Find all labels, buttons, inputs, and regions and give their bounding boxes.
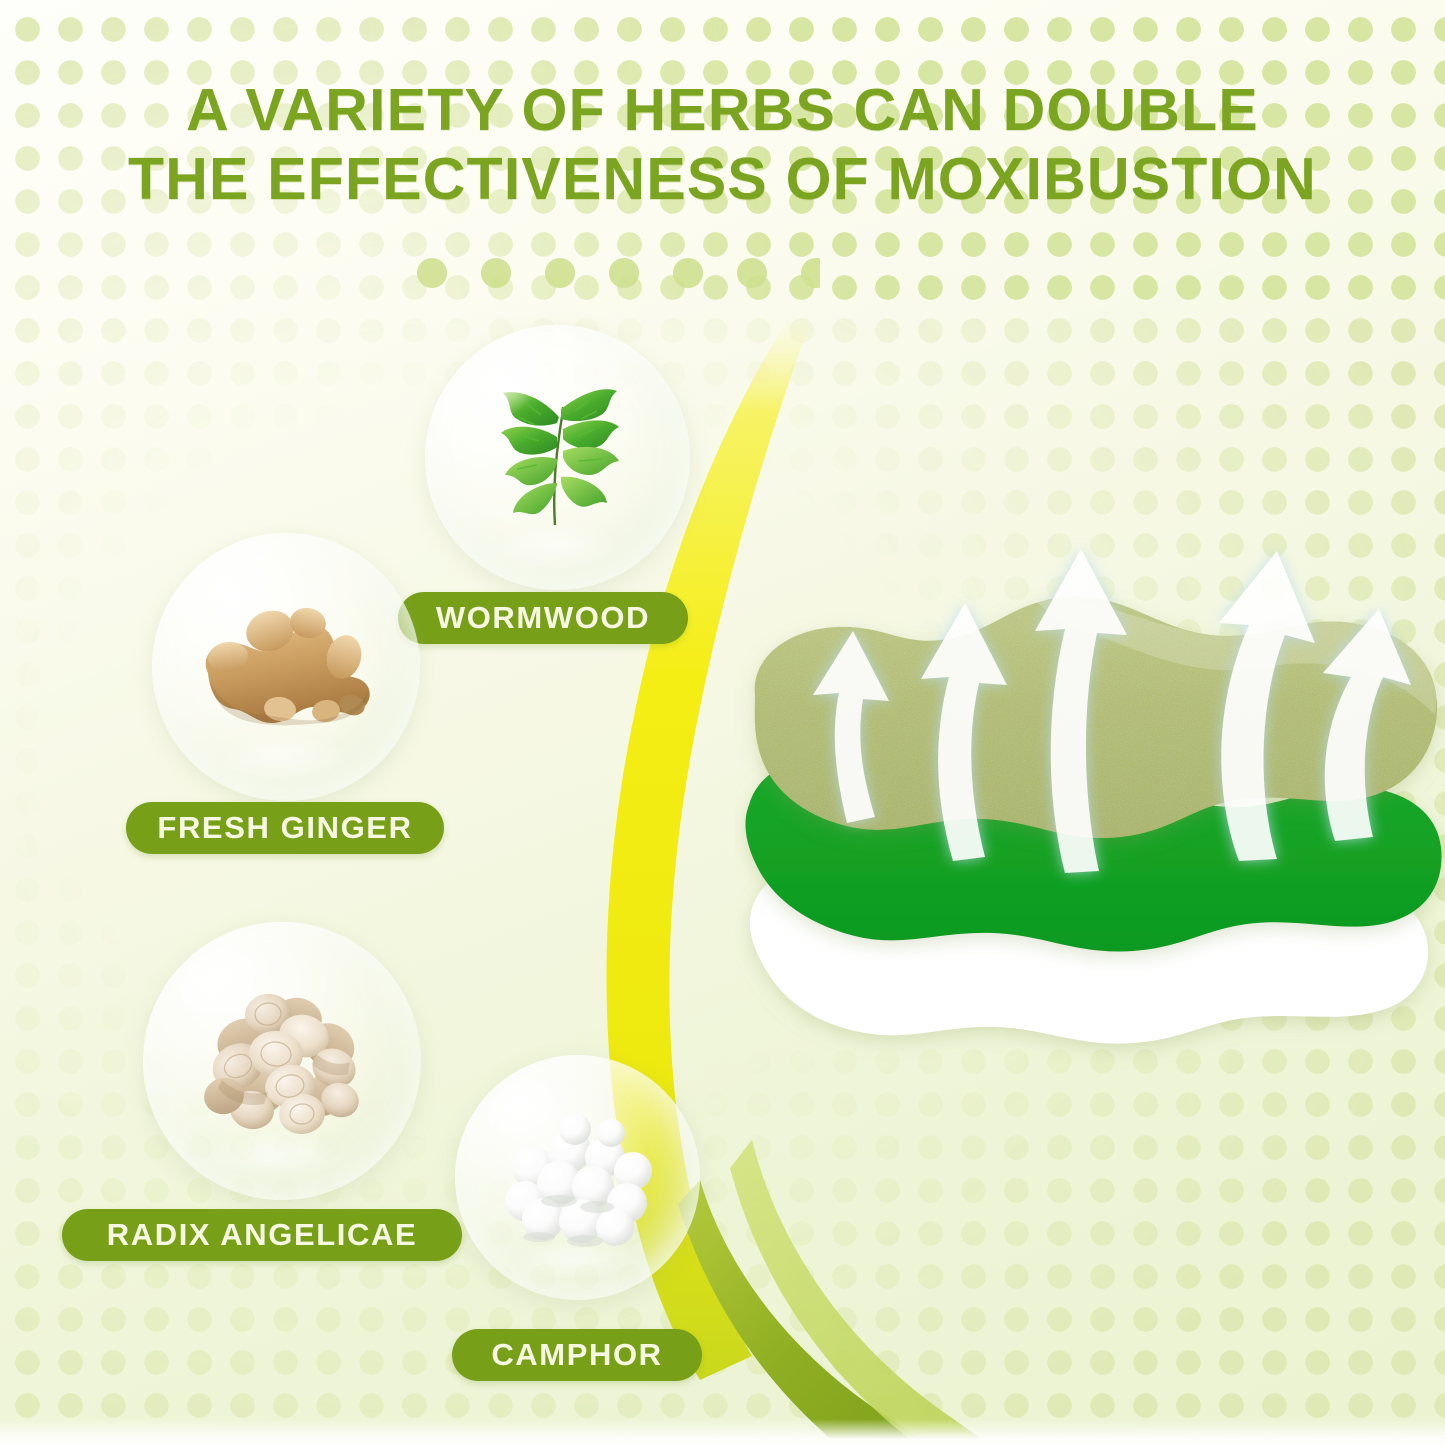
poster-canvas: A VARIETY OF HERBS CAN DOUBLE THE EFFECT…: [0, 0, 1445, 1445]
herb-label-camphor[interactable]: CAMPHOR: [452, 1329, 702, 1381]
dried-root-slices-image: [143, 922, 421, 1200]
page-title-line-2: THE EFFECTIVENESS OF MOXIBUSTION: [0, 145, 1445, 214]
herb-bubble-radix-angelicae[interactable]: [143, 922, 421, 1200]
bottom-fade: [0, 1419, 1445, 1445]
herb-label-text: CAMPHOR: [491, 1337, 662, 1373]
herb-bubble-wormwood[interactable]: [425, 325, 690, 590]
ginger-root-image: [152, 533, 420, 801]
herb-label-text: WORMWOOD: [436, 600, 650, 636]
patch-diagram: [735, 505, 1445, 1085]
camphor-balls-image: [455, 1055, 700, 1300]
herb-bubble-fresh-ginger[interactable]: [152, 533, 420, 801]
background-dot-row: [400, 258, 820, 288]
herb-label-radix-angelicae[interactable]: RADIX ANGELICAE: [62, 1209, 462, 1261]
herb-label-text: RADIX ANGELICAE: [107, 1217, 417, 1253]
herb-bubble-camphor[interactable]: [455, 1055, 700, 1300]
herb-label-fresh-ginger[interactable]: FRESH GINGER: [126, 802, 444, 854]
page-title-line-1: A VARIETY OF HERBS CAN DOUBLE: [186, 77, 1259, 143]
herb-label-text: FRESH GINGER: [157, 810, 412, 846]
wormwood-leaf-image: [425, 325, 690, 590]
page-title: A VARIETY OF HERBS CAN DOUBLE THE EFFECT…: [0, 76, 1445, 214]
herb-label-wormwood[interactable]: WORMWOOD: [398, 592, 688, 644]
